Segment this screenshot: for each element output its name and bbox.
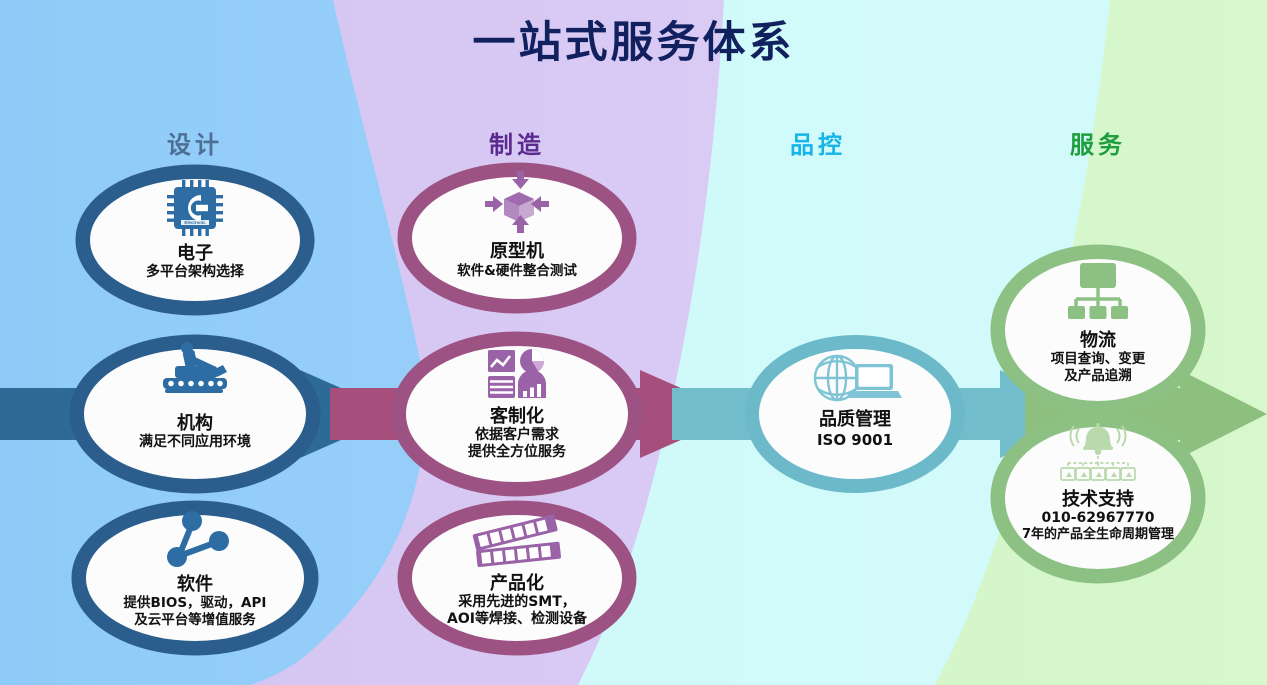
node-title: 原型机 <box>417 241 617 262</box>
node-title: 客制化 <box>412 406 622 427</box>
node-line: 提供全方位服务 <box>412 444 622 461</box>
node-line: 满足不同应用环境 <box>95 434 295 451</box>
infographic-canvas: Electronic <box>0 0 1267 685</box>
cpu-chip-icon: Electronic <box>167 180 223 236</box>
node-line: ISO 9001 <box>760 431 950 449</box>
node-line: 及产品追溯 <box>1002 368 1194 384</box>
node-title: 机构 <box>95 413 295 434</box>
node-tech-support[interactable]: 技术支持 010-62967770 7年的产品全生命周期管理 <box>990 480 1206 552</box>
node-customization[interactable]: 客制化 依据客户需求 提供全方位服务 <box>412 398 622 468</box>
node-title: 电子 <box>95 243 295 264</box>
page-title: 一站式服务体系 <box>0 20 1267 67</box>
node-prototype[interactable]: 原型机 软件&硬件整合测试 <box>417 230 617 290</box>
column-header-quality: 品控 <box>728 125 908 160</box>
node-title: 物流 <box>1002 330 1194 351</box>
node-line: 软件&硬件整合测试 <box>417 263 617 279</box>
node-quality[interactable]: 品质管理 ISO 9001 <box>760 400 950 458</box>
node-line: 及云平台等增值服务 <box>82 612 308 628</box>
node-title: 软件 <box>82 574 308 595</box>
node-mechanism[interactable]: 机构 满足不同应用环境 <box>95 402 295 462</box>
node-line: 提供BIOS，驱动，API <box>82 595 308 611</box>
node-line: 010-62967770 <box>990 510 1206 527</box>
node-title: 技术支持 <box>990 489 1206 510</box>
node-line: 依据客户需求 <box>412 427 622 444</box>
node-logistics[interactable]: 物流 项目查询、变更 及产品追溯 <box>1002 322 1194 392</box>
node-line: 项目查询、变更 <box>1002 351 1194 367</box>
node-electronics[interactable]: 电子 多平台架构选择 <box>95 232 295 292</box>
node-line: 采用先进的SMT， <box>404 594 630 611</box>
node-productization[interactable]: 产品化 采用先进的SMT， AOI等焊接、检测设备 <box>404 564 630 636</box>
node-line: AOI等焊接、检测设备 <box>404 611 630 628</box>
column-header-design: 设计 <box>105 125 285 160</box>
column-header-manufacture: 制造 <box>427 125 607 160</box>
node-software[interactable]: 软件 提供BIOS，驱动，API 及云平台等增值服务 <box>82 566 308 636</box>
node-title: 品质管理 <box>760 409 950 430</box>
column-header-service: 服务 <box>1008 125 1188 160</box>
node-line: 7年的产品全生命周期管理 <box>990 527 1206 543</box>
node-title: 产品化 <box>404 573 630 594</box>
node-line: 多平台架构选择 <box>95 264 295 281</box>
svg-text:Electronic: Electronic <box>184 220 206 225</box>
